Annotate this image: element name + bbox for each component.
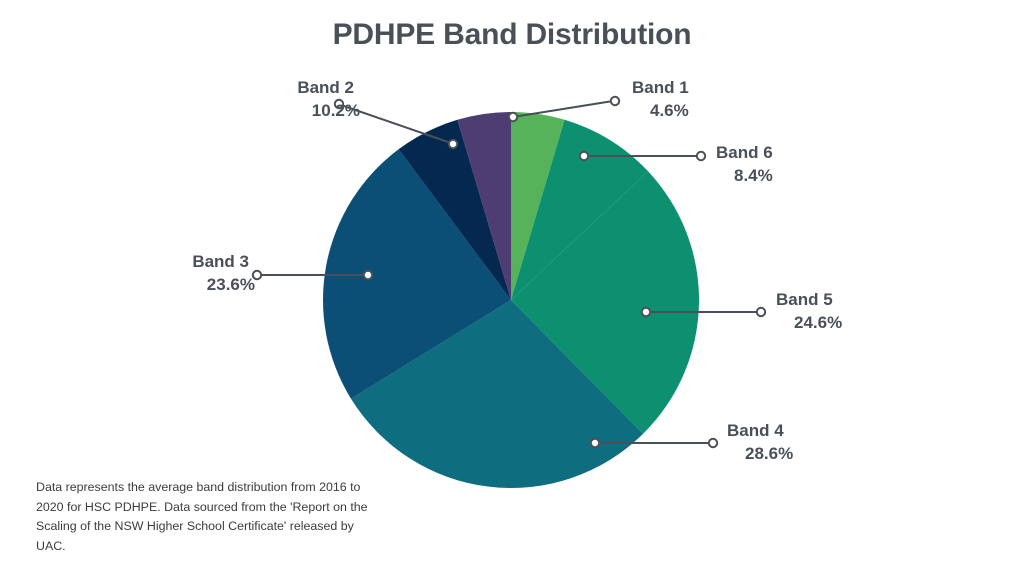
slice-label-band-5-name: Band 5 bbox=[776, 288, 842, 311]
slice-label-band-3: Band 3 23.6% bbox=[60, 250, 255, 297]
slice-label-band-2: Band 2 10.2% bbox=[160, 76, 360, 123]
slice-label-band-4-name: Band 4 bbox=[727, 419, 793, 442]
slice-label-band-1-value: 4.6% bbox=[632, 99, 689, 122]
slice-label-band-5-value: 24.6% bbox=[776, 311, 842, 334]
chart-caption: Data represents the average band distrib… bbox=[36, 478, 381, 556]
slice-label-band-4-value: 28.6% bbox=[727, 442, 793, 465]
slice-label-band-6: Band 6 8.4% bbox=[716, 141, 773, 188]
slice-label-band-6-value: 8.4% bbox=[716, 164, 773, 187]
slice-label-band-2-name: Band 2 bbox=[160, 76, 360, 99]
pie-slices-group bbox=[323, 112, 699, 488]
slice-label-band-1-name: Band 1 bbox=[632, 76, 689, 99]
slice-label-band-6-name: Band 6 bbox=[716, 141, 773, 164]
slice-label-band-3-name: Band 3 bbox=[60, 250, 255, 273]
pie-chart-figure: PDHPE Band Distribution bbox=[0, 0, 1024, 576]
slice-label-band-5: Band 5 24.6% bbox=[776, 288, 842, 335]
slice-label-band-3-value: 23.6% bbox=[60, 273, 255, 296]
slice-label-band-2-value: 10.2% bbox=[160, 99, 360, 122]
slice-label-band-4: Band 4 28.6% bbox=[727, 419, 793, 466]
slice-label-band-1: Band 1 4.6% bbox=[632, 76, 689, 123]
